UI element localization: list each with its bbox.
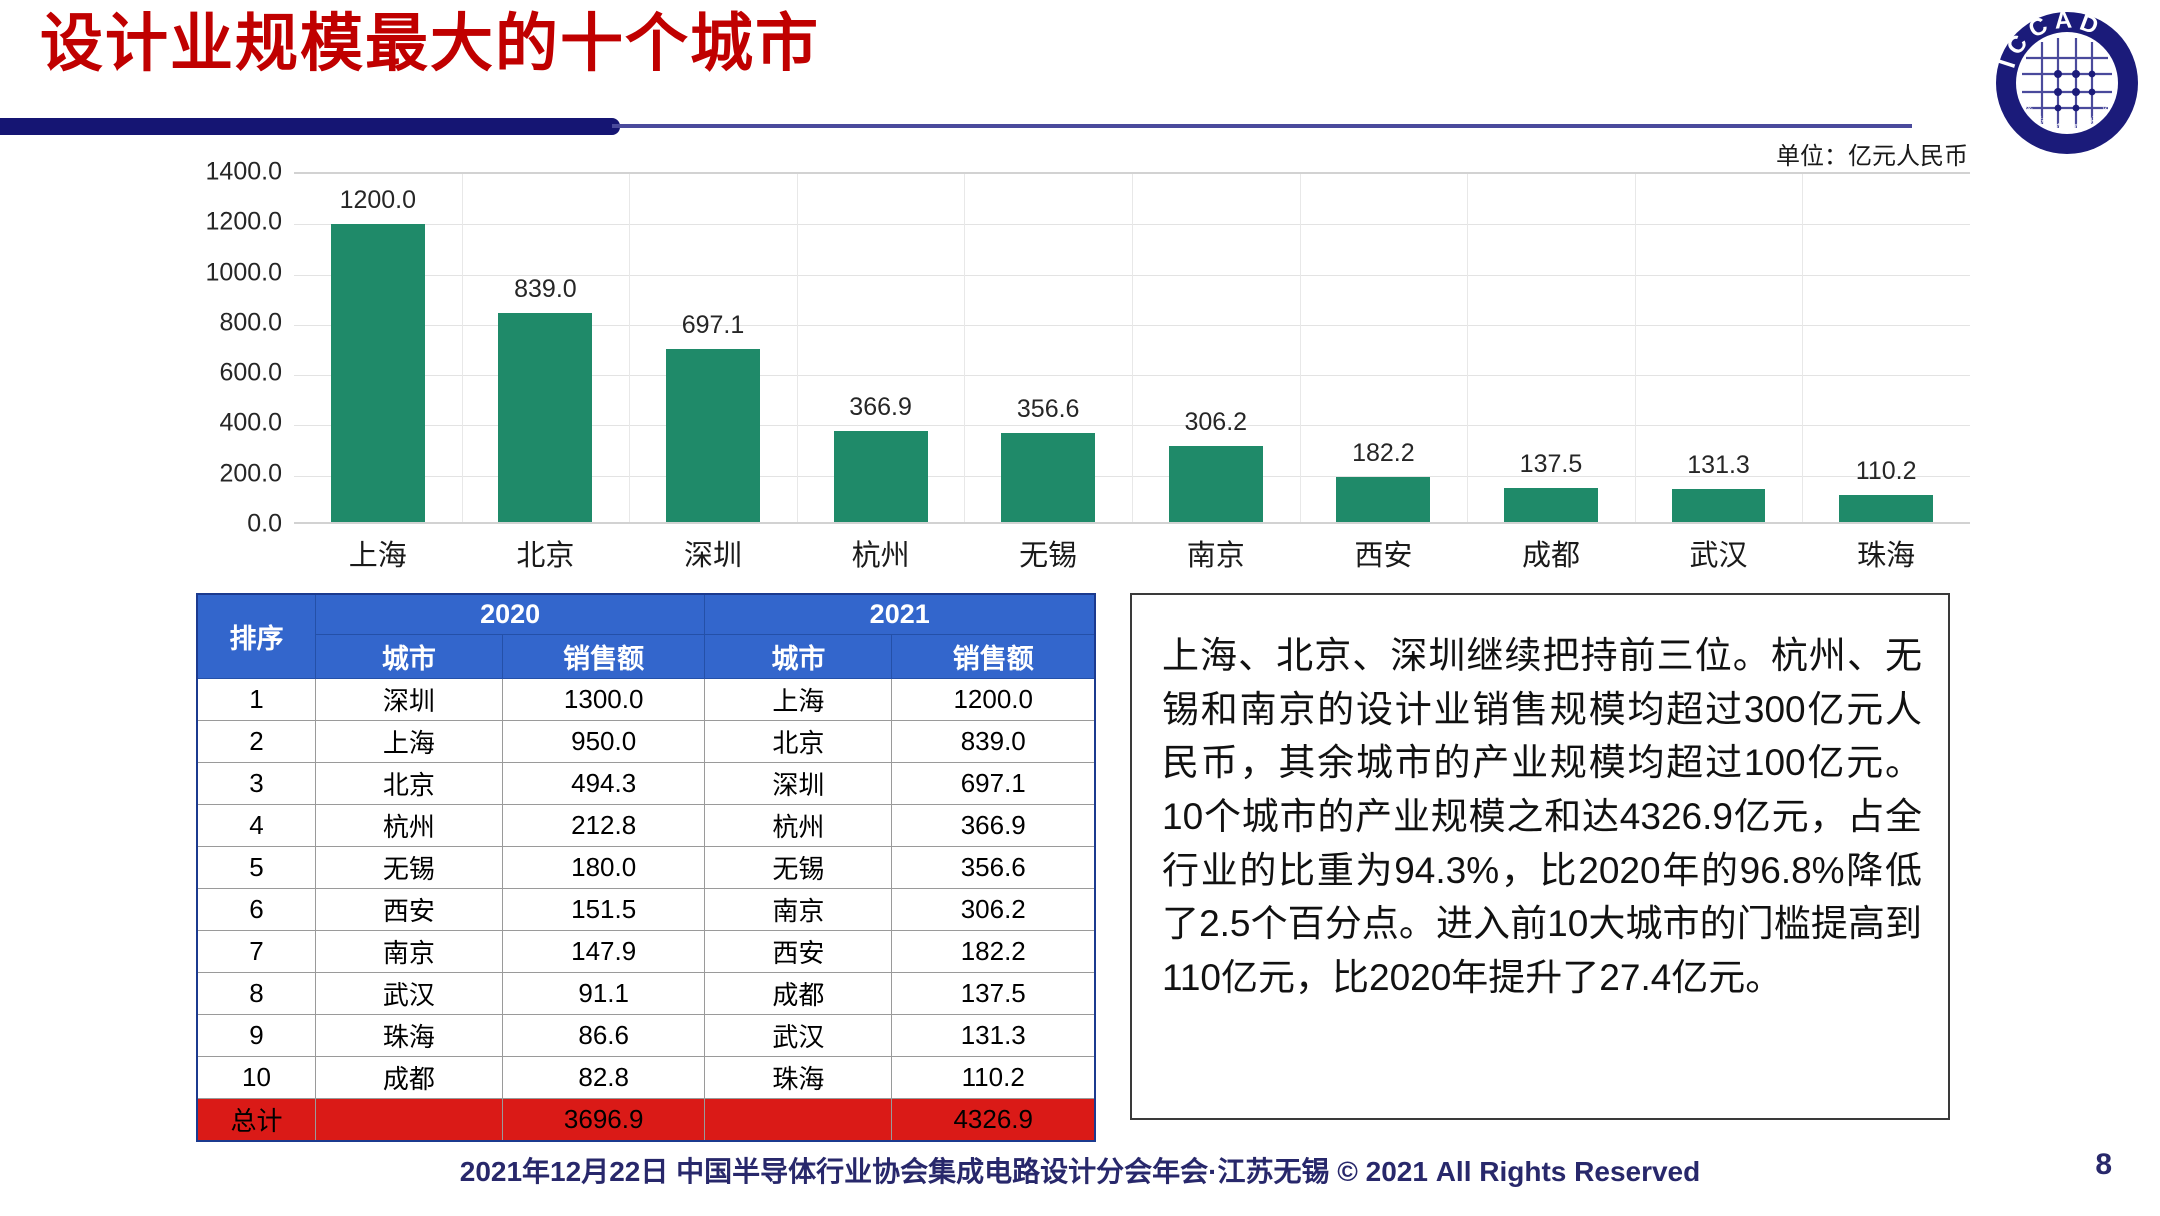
sales-2020-cell: 1300.0 — [502, 679, 704, 721]
bar: 137.5 — [1504, 488, 1598, 522]
commentary-box: 上海、北京、深圳继续把持前三位。杭州、无锡和南京的设计业销售规模均超过300亿元… — [1130, 593, 1950, 1120]
table-row: 4杭州212.8杭州366.9 — [197, 805, 1095, 847]
sales-2020-cell: 86.6 — [502, 1015, 704, 1057]
table-row: 8武汉91.1成都137.5 — [197, 973, 1095, 1015]
x-axis-label: 珠海 — [1802, 532, 1970, 574]
sales-2021-cell: 182.2 — [892, 931, 1095, 973]
rank-cell: 8 — [197, 973, 315, 1015]
bar-series: 1200.0839.0697.1366.9356.6306.2182.2137.… — [294, 174, 1970, 522]
sales-2020-cell: 180.0 — [502, 847, 704, 889]
bar-value-label: 1200.0 — [340, 186, 416, 215]
y-axis-tick: 600.0 — [219, 359, 282, 388]
x-axis-label: 深圳 — [629, 532, 797, 574]
sales-2021-cell: 697.1 — [892, 763, 1095, 805]
city-2021-cell: 无锡 — [705, 847, 892, 889]
rank-cell: 4 — [197, 805, 315, 847]
bar: 306.2 — [1169, 446, 1263, 522]
sales-2021-cell: 1200.0 — [892, 679, 1095, 721]
table-body: 1深圳1300.0上海1200.02上海950.0北京839.03北京494.3… — [197, 679, 1095, 1142]
bar-value-label: 356.6 — [1017, 395, 1080, 424]
bar: 366.9 — [834, 431, 928, 522]
city-2020-cell: 珠海 — [315, 1015, 502, 1057]
city-2021-cell: 杭州 — [705, 805, 892, 847]
city-2021-cell: 武汉 — [705, 1015, 892, 1057]
sales-2020-cell: 82.8 — [502, 1057, 704, 1099]
city-2020-cell: 深圳 — [315, 679, 502, 721]
rank-cell: 6 — [197, 889, 315, 931]
y-axis-tick: 800.0 — [219, 308, 282, 337]
x-axis-label: 成都 — [1467, 532, 1635, 574]
bar-value-label: 110.2 — [1856, 457, 1917, 486]
title-divider-thin — [612, 124, 1912, 128]
bar-slot: 137.5 — [1467, 174, 1635, 522]
city-2020-cell: 上海 — [315, 721, 502, 763]
city-2020-cell: 西安 — [315, 889, 502, 931]
sales-2020-cell: 950.0 — [502, 721, 704, 763]
sales-2020-cell: 494.3 — [502, 763, 704, 805]
sales-2020-cell: 147.9 — [502, 931, 704, 973]
sales-2021-cell: 366.9 — [892, 805, 1095, 847]
page-number: 8 — [2095, 1148, 2112, 1182]
bar-slot: 110.2 — [1802, 174, 1970, 522]
rank-cell: 9 — [197, 1015, 315, 1057]
city-2021-cell: 珠海 — [705, 1057, 892, 1099]
table-row: 7南京147.9西安182.2 — [197, 931, 1095, 973]
footer-text: 2021年12月22日 中国半导体行业协会集成电路设计分会年会·江苏无锡 © 2… — [0, 1150, 2160, 1190]
sales-2021-cell: 137.5 — [892, 973, 1095, 1015]
sales-2021-cell: 131.3 — [892, 1015, 1095, 1057]
bar-value-label: 137.5 — [1520, 450, 1583, 479]
city-2020-cell: 杭州 — [315, 805, 502, 847]
table-header-row-groups: 排序 2020 2021 — [197, 594, 1095, 635]
table-row: 1深圳1300.0上海1200.0 — [197, 679, 1095, 721]
bar-value-label: 839.0 — [514, 275, 577, 304]
sales-2021-cell: 356.6 — [892, 847, 1095, 889]
bar: 697.1 — [666, 349, 760, 522]
x-axis-labels: 上海北京深圳杭州无锡南京西安成都武汉珠海 — [294, 532, 1970, 574]
city-2020-cell: 北京 — [315, 763, 502, 805]
x-axis-label: 南京 — [1132, 532, 1300, 574]
total-label-cell: 总计 — [197, 1099, 315, 1142]
city-2020-cell: 成都 — [315, 1057, 502, 1099]
y-axis-tick: 1400.0 — [206, 158, 282, 187]
city-2021-cell: 南京 — [705, 889, 892, 931]
table-row: 10成都82.8珠海110.2 — [197, 1057, 1095, 1099]
bar-slot: 366.9 — [797, 174, 965, 522]
sales-2020-cell: 151.5 — [502, 889, 704, 931]
city-2020-cell: 武汉 — [315, 973, 502, 1015]
col-header-rank: 排序 — [197, 594, 315, 679]
y-axis-tick: 200.0 — [219, 459, 282, 488]
bar-slot: 839.0 — [462, 174, 630, 522]
x-axis-label: 西安 — [1300, 532, 1468, 574]
bar: 110.2 — [1839, 495, 1933, 522]
rank-cell: 5 — [197, 847, 315, 889]
city-2021-cell: 成都 — [705, 973, 892, 1015]
bar-slot: 131.3 — [1635, 174, 1803, 522]
bar-slot: 356.6 — [964, 174, 1132, 522]
table-row: 3北京494.3深圳697.1 — [197, 763, 1095, 805]
bar: 356.6 — [1001, 433, 1095, 522]
x-axis-label: 北京 — [462, 532, 630, 574]
bar-slot: 1200.0 — [294, 174, 462, 522]
col-header-year-2020: 2020 — [315, 594, 705, 635]
rank-cell: 7 — [197, 931, 315, 973]
x-axis-label: 杭州 — [797, 532, 965, 574]
col-header-year-2021: 2021 — [705, 594, 1095, 635]
table-row: 5无锡180.0无锡356.6 — [197, 847, 1095, 889]
ranking-table: 排序 2020 2021 城市 销售额 城市 销售额 1深圳1300.0上海12… — [196, 593, 1096, 1142]
iccad-logo-icon: I C C A D 中国半导体行业协会集成电路设计分会 — [1992, 8, 2142, 158]
col-header-city-2021: 城市 — [705, 635, 892, 679]
total-city-2020-cell — [315, 1099, 502, 1142]
total-sales-2020-cell: 3696.9 — [502, 1099, 704, 1142]
table-header-row-subs: 城市 销售额 城市 销售额 — [197, 635, 1095, 679]
col-header-city-2020: 城市 — [315, 635, 502, 679]
total-city-2021-cell — [705, 1099, 892, 1142]
y-axis: 1400.01200.01000.0800.0600.0400.0200.00.… — [170, 160, 288, 532]
city-2021-cell: 深圳 — [705, 763, 892, 805]
bar-value-label: 697.1 — [682, 311, 745, 340]
x-axis-label: 武汉 — [1635, 532, 1803, 574]
x-axis-label: 无锡 — [964, 532, 1132, 574]
y-axis-tick: 400.0 — [219, 409, 282, 438]
col-header-sales-2021: 销售额 — [892, 635, 1095, 679]
bar-value-label: 306.2 — [1184, 408, 1247, 437]
rank-cell: 3 — [197, 763, 315, 805]
bar: 1200.0 — [331, 224, 425, 522]
plot-area: 1200.0839.0697.1366.9356.6306.2182.2137.… — [294, 172, 1970, 524]
bar-value-label: 182.2 — [1352, 439, 1415, 468]
table-total-row: 总计3696.94326.9 — [197, 1099, 1095, 1142]
bar-slot: 182.2 — [1300, 174, 1468, 522]
rank-cell: 1 — [197, 679, 315, 721]
city-2021-cell: 西安 — [705, 931, 892, 973]
sales-2020-cell: 212.8 — [502, 805, 704, 847]
bar-value-label: 366.9 — [849, 393, 912, 422]
sales-2021-cell: 306.2 — [892, 889, 1095, 931]
city-2020-cell: 南京 — [315, 931, 502, 973]
commentary-text: 上海、北京、深圳继续把持前三位。杭州、无锡和南京的设计业销售规模均超过300亿元… — [1162, 629, 1922, 1004]
sales-2021-cell: 839.0 — [892, 721, 1095, 763]
table-row: 2上海950.0北京839.0 — [197, 721, 1095, 763]
bar: 131.3 — [1672, 489, 1766, 522]
bar: 182.2 — [1336, 477, 1430, 522]
table-header: 排序 2020 2021 城市 销售额 城市 销售额 — [197, 594, 1095, 679]
city-2021-cell: 北京 — [705, 721, 892, 763]
x-axis-label: 上海 — [294, 532, 462, 574]
bar-chart: 1400.01200.01000.0800.0600.0400.0200.00.… — [170, 160, 1970, 580]
rank-cell: 10 — [197, 1057, 315, 1099]
sales-2021-cell: 110.2 — [892, 1057, 1095, 1099]
city-2021-cell: 上海 — [705, 679, 892, 721]
rank-cell: 2 — [197, 721, 315, 763]
y-axis-tick: 1000.0 — [206, 258, 282, 287]
city-2020-cell: 无锡 — [315, 847, 502, 889]
bar-value-label: 131.3 — [1687, 451, 1750, 480]
total-sales-2021-cell: 4326.9 — [892, 1099, 1095, 1142]
bar-slot: 306.2 — [1132, 174, 1300, 522]
title-divider-thick — [0, 118, 620, 135]
bar-slot: 697.1 — [629, 174, 797, 522]
y-axis-tick: 1200.0 — [206, 208, 282, 237]
page-title: 设计业规模最大的十个城市 — [40, 8, 820, 80]
table-row: 6西安151.5南京306.2 — [197, 889, 1095, 931]
table-row: 9珠海86.6武汉131.3 — [197, 1015, 1095, 1057]
col-header-sales-2020: 销售额 — [502, 635, 704, 679]
sales-2020-cell: 91.1 — [502, 973, 704, 1015]
y-axis-tick: 0.0 — [247, 510, 282, 539]
bar: 839.0 — [498, 313, 592, 522]
